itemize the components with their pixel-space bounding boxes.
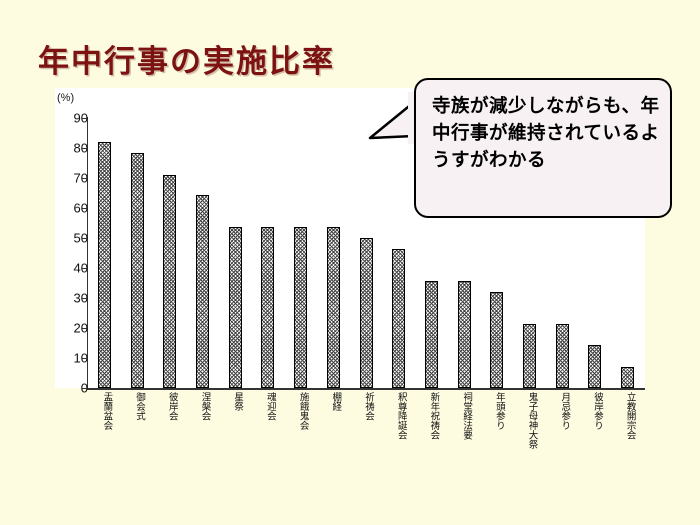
slide-canvas: 年中行事の実施比率 (%) 0102030405060708090 盂蘭盆会御会… (0, 0, 700, 525)
y-axis-tick-mark (82, 148, 87, 149)
x-axis-tick-label: 釈尊降誕会 (392, 392, 406, 440)
bar (98, 142, 111, 388)
bar (425, 281, 438, 388)
bar (261, 227, 274, 388)
bar (588, 345, 601, 388)
bar (490, 292, 503, 388)
y-axis-unit-label: (%) (57, 92, 74, 104)
bar (131, 153, 144, 389)
x-axis-tick-labels: 盂蘭盆会御会式彼岸会涅槃会星祭魂迎会施餓鬼会棚経祈祷会釈尊降誕会新年祝祷会祠堂経… (88, 392, 644, 502)
x-axis-tick-label: 施餓鬼会 (294, 392, 308, 430)
x-axis-tick-label: 立教開宗会 (621, 392, 635, 440)
callout-text: 寺族が減少しながらも、年中行事が維持されているようすがわかる (432, 92, 660, 173)
y-axis-tick-mark (82, 118, 87, 119)
bar (392, 249, 405, 388)
y-axis-tick-mark (82, 328, 87, 329)
x-axis-tick-label: 鬼子母神大祭 (523, 392, 537, 449)
bar (360, 238, 373, 388)
x-axis-tick-label: 祈祷会 (359, 392, 373, 421)
x-axis-tick-label: 月忌参り (555, 392, 569, 430)
x-axis-tick-label: 年頭参り (490, 392, 504, 430)
y-axis-tick-mark (82, 268, 87, 269)
x-axis-tick-label: 星祭 (228, 392, 242, 411)
x-axis-tick-label: 祠堂経法要 (457, 392, 471, 440)
x-axis-tick-label: 彼岸会 (163, 392, 177, 421)
page-title: 年中行事の実施比率 (38, 36, 335, 81)
y-axis-tick-mark (82, 238, 87, 239)
bar (458, 281, 471, 388)
bar (621, 367, 634, 388)
x-axis-tick-label: 盂蘭盆会 (97, 392, 111, 430)
x-axis-tick-label: 涅槃会 (195, 392, 209, 421)
y-axis-tick-mark (82, 298, 87, 299)
bar (196, 195, 209, 388)
x-axis-tick-label: 魂迎会 (261, 392, 275, 421)
y-axis-tick-mark (82, 208, 87, 209)
x-axis-line (87, 388, 645, 390)
y-axis-tick-mark (82, 358, 87, 359)
x-axis-tick-label: 棚経 (326, 392, 340, 411)
y-axis-tick-mark (82, 178, 87, 179)
bar (229, 227, 242, 388)
bar (523, 324, 536, 388)
x-axis-tick-label: 新年祝祷会 (424, 392, 438, 440)
y-axis-tick-mark (82, 388, 87, 389)
x-axis-tick-label: 御会式 (130, 392, 144, 421)
bar (294, 227, 307, 388)
bar (163, 175, 176, 388)
x-axis-tick-label: 彼岸参り (588, 392, 602, 430)
bar (556, 324, 569, 388)
callout-bubble: 寺族が減少しながらも、年中行事が維持されているようすがわかる (414, 78, 672, 218)
bar (327, 227, 340, 388)
